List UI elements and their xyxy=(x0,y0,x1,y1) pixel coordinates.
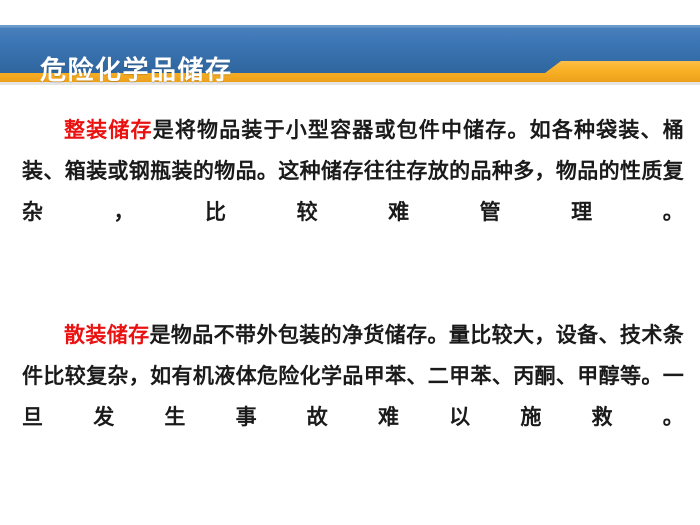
paragraph-zhengzhuang-chucun: 整装储存是将物品装于小型容器或包件中储存。如各种袋装、桶装、箱装或钢瓶装的物品。… xyxy=(22,110,684,274)
keyword-sanzhuang-chucun: 散装储存 xyxy=(64,324,150,347)
slide-canvas: 危险化学品储存 整装储存是将物品装于小型容器或包件中储存。如各种袋装、桶装、箱装… xyxy=(0,0,700,525)
slide-body: 整装储存是将物品装于小型容器或包件中储存。如各种袋装、桶装、箱装或钢瓶装的物品。… xyxy=(22,110,684,479)
keyword-zhengzhuang-chucun: 整装储存 xyxy=(64,119,153,142)
paragraph-sanzhuang-chucun: 散装储存是物品不带外包装的净货储存。量比较大，设备、技术条件比较复杂，如有机液体… xyxy=(22,315,684,479)
page-title: 危险化学品储存 xyxy=(40,52,233,88)
slide-header-banner: 危险化学品储存 xyxy=(0,25,700,85)
